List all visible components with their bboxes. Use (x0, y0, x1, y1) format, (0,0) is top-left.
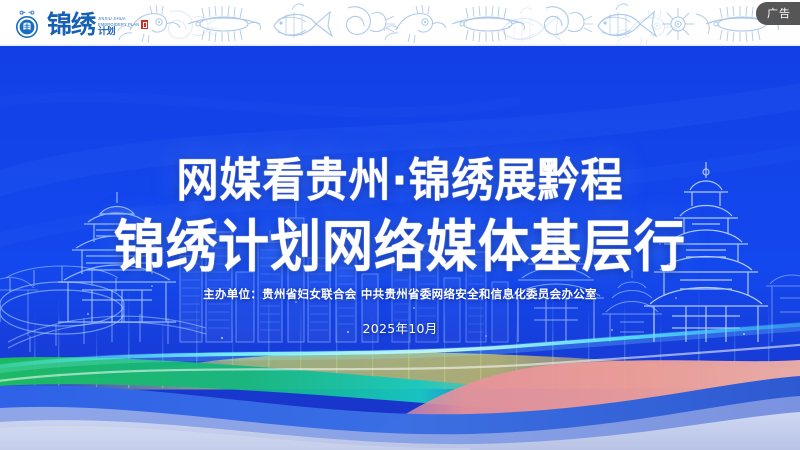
logo-plan-label: 计划 (98, 28, 139, 37)
promo-poster: 网媒看贵州·锦绣展黔程 锦绣计划网络媒体基层行 主办单位：贵州省妇女联合会 中共… (0, 0, 800, 450)
logo-wordmark-cn: 锦绣 (47, 12, 95, 37)
emblem-svg (12, 8, 42, 38)
ad-badge[interactable]: 广告 (756, 2, 800, 25)
scenery-illustration (0, 46, 800, 450)
poster-stage (0, 46, 800, 450)
jinxiu-circular-emblem (12, 8, 42, 38)
red-seal-mark (141, 20, 148, 29)
logo-pinyin-line-2: EMBROIDERY PLAN (98, 21, 139, 27)
logo-subtext: JINXIU JIHUA EMBROIDERY PLAN 计划 (98, 10, 139, 38)
jinxiu-logo[interactable]: 锦绣 JINXIU JIHUA EMBROIDERY PLAN 计划 (12, 6, 148, 40)
logo-wordmark: 锦绣 JINXIU JIHUA EMBROIDERY PLAN 计划 (47, 8, 148, 38)
top-banner: 锦绣 JINXIU JIHUA EMBROIDERY PLAN 计划 广告 (0, 0, 800, 46)
